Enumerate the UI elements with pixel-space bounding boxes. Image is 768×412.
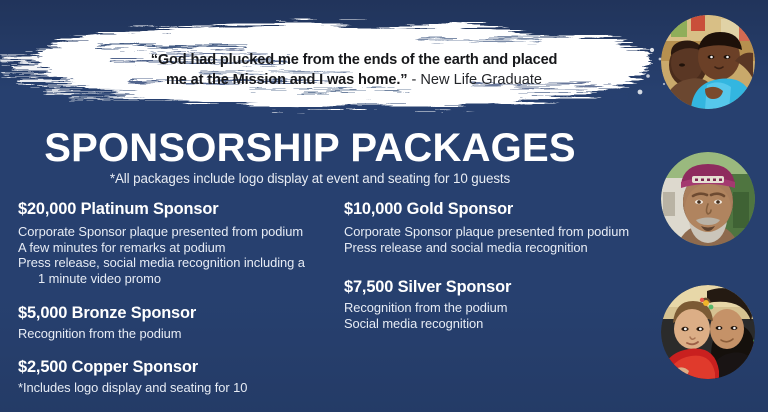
tier-benefit: Press release, social media recognition … xyxy=(18,255,338,271)
photo-father-and-son xyxy=(661,15,755,109)
photo-man-in-cap xyxy=(661,152,755,246)
quote-line-1: “God had plucked me from the ends of the… xyxy=(128,50,580,70)
tier-title-platinum: $20,000 Platinum Sponsor xyxy=(18,199,338,220)
page-subtitle: *All packages include logo display at ev… xyxy=(0,170,620,188)
tier-benefit: 1 minute video promo xyxy=(18,271,338,287)
tier-benefit: Social media recognition xyxy=(344,316,654,332)
sponsor-tier-silver: $7,500 Silver Sponsor Recognition from t… xyxy=(344,277,654,331)
tier-benefit: Corporate Sponsor plaque presented from … xyxy=(344,224,654,240)
sponsor-tier-bronze: $5,000 Bronze Sponsor Recognition from t… xyxy=(18,303,338,342)
sponsor-column-right: $10,000 Gold Sponsor Corporate Sponsor p… xyxy=(344,199,654,331)
tier-benefit: Recognition from the podium xyxy=(18,326,338,342)
quote-line-2: me at the Mission and I was home.” - New… xyxy=(128,70,580,90)
tier-benefit: *Includes logo display and seating for 1… xyxy=(18,380,338,396)
sponsor-tier-gold: $10,000 Gold Sponsor Corporate Sponsor p… xyxy=(344,199,654,255)
tier-title-gold: $10,000 Gold Sponsor xyxy=(344,199,654,220)
photo-two-children xyxy=(661,285,755,379)
sponsor-tier-copper: $2,500 Copper Sponsor *Includes logo dis… xyxy=(18,357,338,396)
tier-benefit: Corporate Sponsor plaque presented from … xyxy=(18,224,338,240)
sponsor-column-left: $20,000 Platinum Sponsor Corporate Spons… xyxy=(18,199,338,396)
tier-benefit: Recognition from the podium xyxy=(344,300,654,316)
tier-title-silver: $7,500 Silver Sponsor xyxy=(344,277,654,298)
sponsor-tier-platinum: $20,000 Platinum Sponsor Corporate Spons… xyxy=(18,199,338,286)
tier-benefit: A few minutes for remarks at podium xyxy=(18,240,338,256)
page-title: SPONSORSHIP PACKAGES xyxy=(0,126,620,170)
testimonial-quote: “God had plucked me from the ends of the… xyxy=(128,50,580,90)
tier-title-copper: $2,500 Copper Sponsor xyxy=(18,357,338,378)
quote-line-2-text: me at the Mission and I was home.” xyxy=(166,72,407,88)
tier-benefit: Press release and social media recogniti… xyxy=(344,240,654,256)
sponsorship-flyer: “God had plucked me from the ends of the… xyxy=(0,0,768,412)
quote-attribution: - New Life Graduate xyxy=(407,72,542,88)
tier-title-bronze: $5,000 Bronze Sponsor xyxy=(18,303,338,324)
